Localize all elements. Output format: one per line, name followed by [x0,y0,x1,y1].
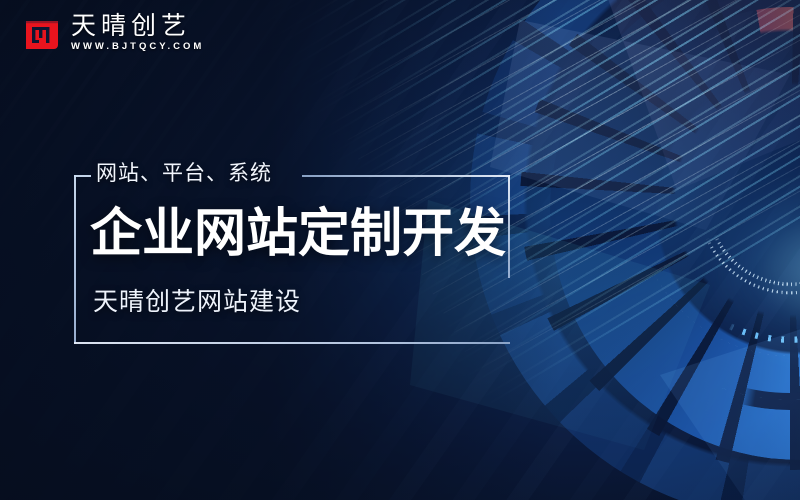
site-logo[interactable]: 天晴创艺 WWW.BJTQCY.COM [24,14,204,52]
banner-canvas: 天晴创艺 WWW.BJTQCY.COM 网站、平台、系统 企业网站定制开发 天晴… [0,0,800,500]
logo-text-group: 天晴创艺 WWW.BJTQCY.COM [71,14,204,52]
logo-mark-icon [24,15,60,51]
frame-top-right-rule [302,175,510,177]
logo-company-name: 天晴创艺 [71,14,204,39]
frame-left-rule [74,175,76,344]
logo-website-url: WWW.BJTQCY.COM [71,42,204,52]
frame-top-left-tick [74,175,91,177]
frame-bottom-rule [74,342,510,344]
subtitle-text: 天晴创艺网站建设 [93,290,301,315]
frame-right-rule [508,175,510,278]
eyebrow-text: 网站、平台、系统 [96,163,272,184]
page-title: 企业网站定制开发 [90,206,506,263]
